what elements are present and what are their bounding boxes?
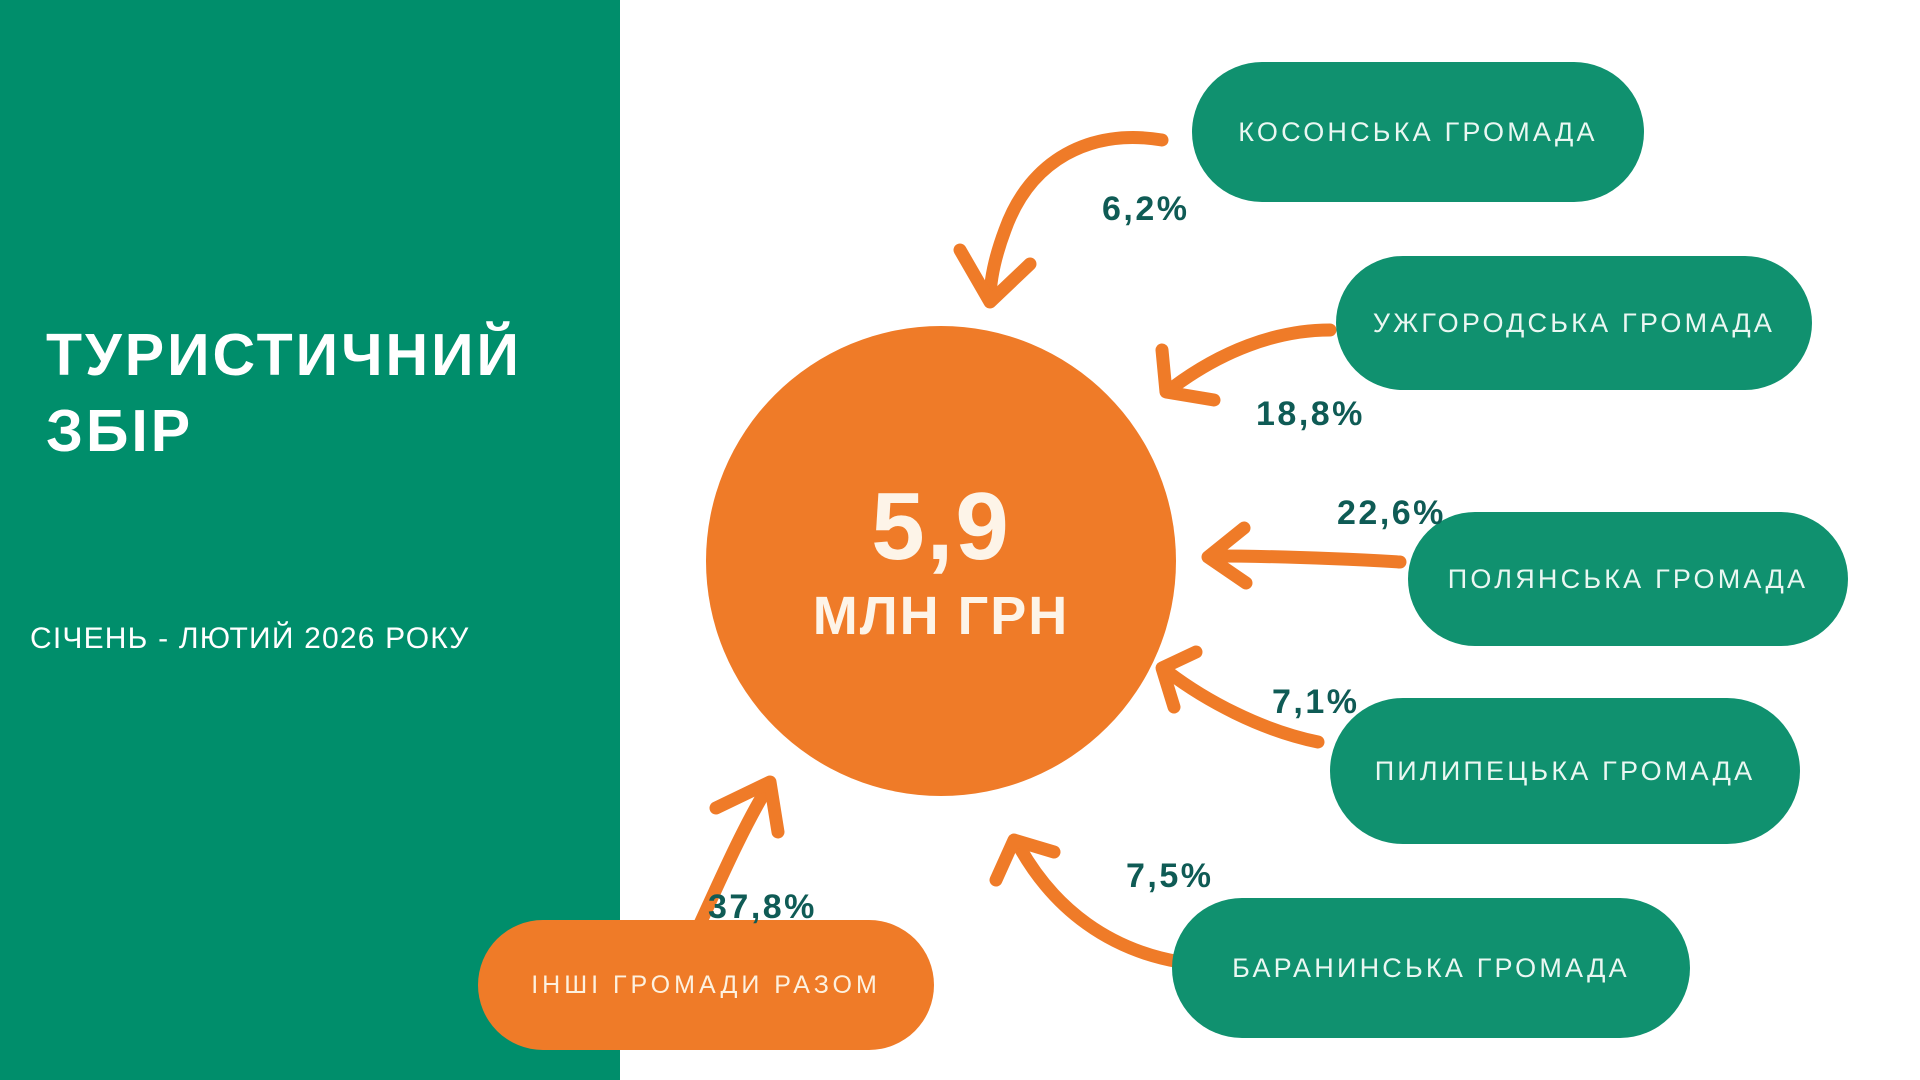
- page-title-line-1: ТУРИСТИЧНИЙ: [46, 318, 606, 394]
- total-unit: МЛН ГРН: [813, 589, 1070, 643]
- node-label-baranynska[interactable]: БАРАНИНСЬКА ГРОМАДА: [1172, 898, 1690, 1038]
- percent-kosonska: 6,2%: [1102, 190, 1190, 229]
- infographic-canvas: ТУРИСТИЧНИЙ ЗБІР СІЧЕНЬ - ЛЮТИЙ 2026 РОК…: [0, 0, 1920, 1080]
- percent-pylypetska: 7,1%: [1272, 683, 1360, 722]
- total-value: 5,9: [871, 479, 1010, 575]
- node-label-polianska[interactable]: ПОЛЯНСЬКА ГРОМАДА: [1408, 512, 1848, 646]
- page-title: ТУРИСТИЧНИЙ ЗБІР: [46, 318, 606, 469]
- page-title-line-2: ЗБІР: [46, 394, 606, 470]
- percent-uzhhorodska: 18,8%: [1256, 395, 1365, 434]
- left-title-panel: [0, 0, 620, 1080]
- page-subtitle: СІЧЕНЬ - ЛЮТИЙ 2026 РОКУ: [30, 622, 620, 656]
- arrow-to-hub-polianska: [1208, 528, 1400, 583]
- total-hub-circle: 5,9 МЛН ГРН: [706, 326, 1176, 796]
- percent-polianska: 22,6%: [1337, 494, 1446, 533]
- node-label-uzhhorodska[interactable]: УЖГОРОДСЬКА ГРОМАДА: [1336, 256, 1812, 390]
- node-label-inshi-hromady[interactable]: ІНШІ ГРОМАДИ РАЗОМ: [478, 920, 934, 1050]
- node-label-kosonska[interactable]: КОСОНСЬКА ГРОМАДА: [1192, 62, 1644, 202]
- percent-baranynska: 7,5%: [1126, 857, 1214, 896]
- arrow-to-hub-uzhhorod: [1162, 330, 1330, 400]
- node-label-pylypetska[interactable]: ПИЛИПЕЦЬКА ГРОМАДА: [1330, 698, 1800, 844]
- percent-inshi-hromady: 37,8%: [708, 888, 817, 927]
